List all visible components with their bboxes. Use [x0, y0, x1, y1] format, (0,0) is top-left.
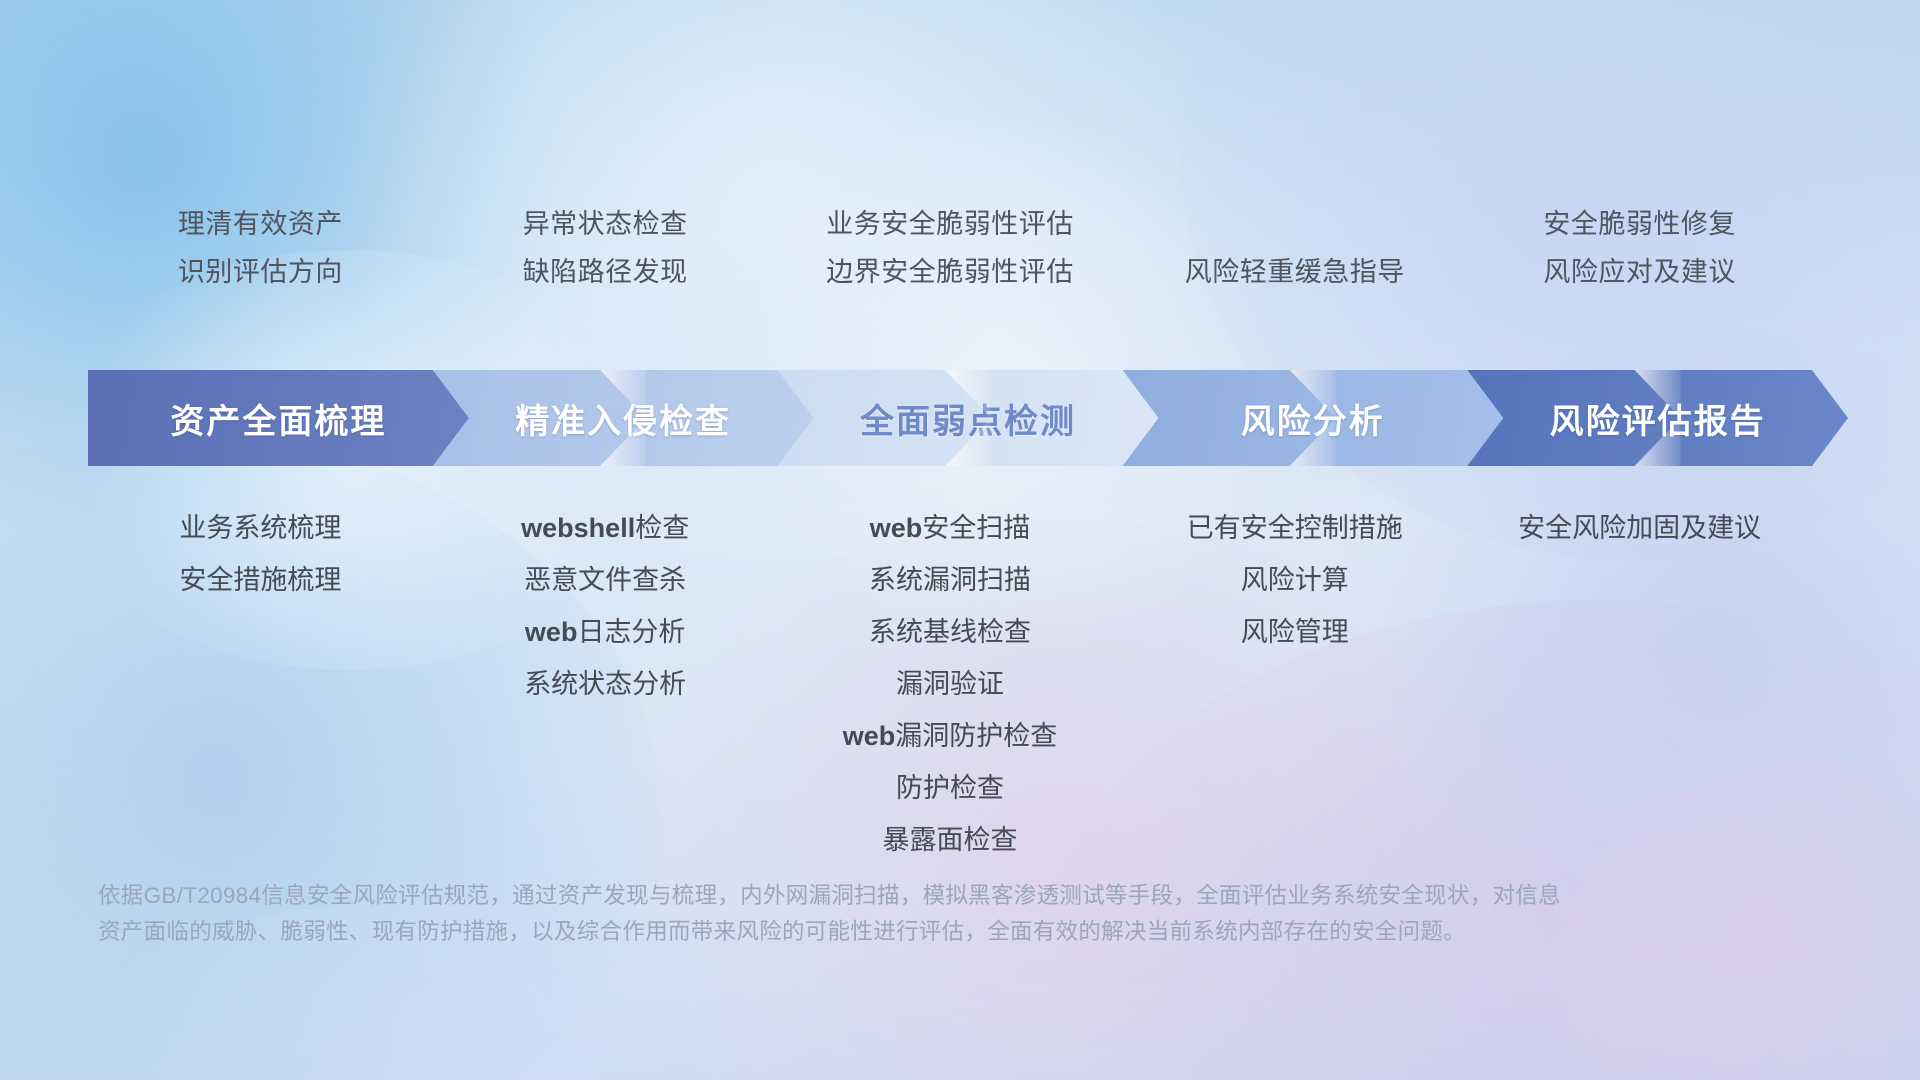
process-diagram: 理清有效资产识别评估方向异常状态检查缺陷路径发现业务安全脆弱性评估边界安全脆弱性…	[0, 0, 1920, 1080]
stage-bottom-items-assessment-report: 安全风险加固及建议	[1340, 502, 1920, 554]
stage-bottom-item: 安全风险加固及建议	[1340, 502, 1920, 554]
process-stage-asset-inventory[interactable]: 资产全面梳理	[88, 370, 469, 466]
process-stage-risk-analysis[interactable]: 风险分析	[1122, 370, 1503, 466]
footer-line-2: 资产面临的威胁、脆弱性、现有防护措施，以及综合作用而带来风险的可能性进行评估，全…	[98, 914, 1618, 950]
stage-bottom-item: 暴露面检查	[650, 814, 1250, 866]
process-stage-intrusion-check[interactable]: 精准入侵检查	[433, 370, 814, 466]
footer-line-1: 依据GB/T20984信息安全风险评估规范，通过资产发现与梳理，内外网漏洞扫描，…	[98, 878, 1618, 914]
process-arrow-band: 资产全面梳理精准入侵检查全面弱点检测风险分析风险评估报告	[88, 370, 1848, 466]
process-stage-label-assessment-report: 风险评估报告	[1550, 394, 1766, 443]
process-stage-label-asset-inventory: 资产全面梳理	[170, 394, 386, 443]
footer-description: 依据GB/T20984信息安全风险评估规范，通过资产发现与梳理，内外网漏洞扫描，…	[98, 878, 1618, 950]
stage-bottom-item: 漏洞验证	[650, 658, 1250, 710]
stage-bottom-item-prefix: web	[843, 721, 896, 751]
stage-bottom-item: web漏洞防护检查	[650, 710, 1250, 762]
process-stage-label-intrusion-check: 精准入侵检查	[515, 394, 731, 443]
stage-bottom-item-prefix: webshell	[521, 513, 635, 543]
process-stage-label-weakness-detection: 全面弱点检测	[860, 394, 1076, 443]
stage-top-item: 安全脆弱性修复	[1340, 200, 1920, 248]
stage-top-items-assessment-report: 安全脆弱性修复风险应对及建议	[1340, 200, 1920, 296]
stage-bottom-item-prefix: web	[870, 513, 923, 543]
stage-bottom-item: 风险计算	[995, 554, 1595, 606]
stage-bottom-item: 风险管理	[995, 606, 1595, 658]
stage-bottom-item-prefix: web	[525, 617, 578, 647]
stage-top-item: 风险应对及建议	[1340, 248, 1920, 296]
stage-bottom-item: 防护检查	[650, 762, 1250, 814]
process-stage-weakness-detection[interactable]: 全面弱点检测	[778, 370, 1159, 466]
stage-top-item: 业务安全脆弱性评估	[650, 200, 1250, 248]
process-stage-label-risk-analysis: 风险分析	[1241, 394, 1385, 443]
process-stage-assessment-report[interactable]: 风险评估报告	[1467, 370, 1848, 466]
